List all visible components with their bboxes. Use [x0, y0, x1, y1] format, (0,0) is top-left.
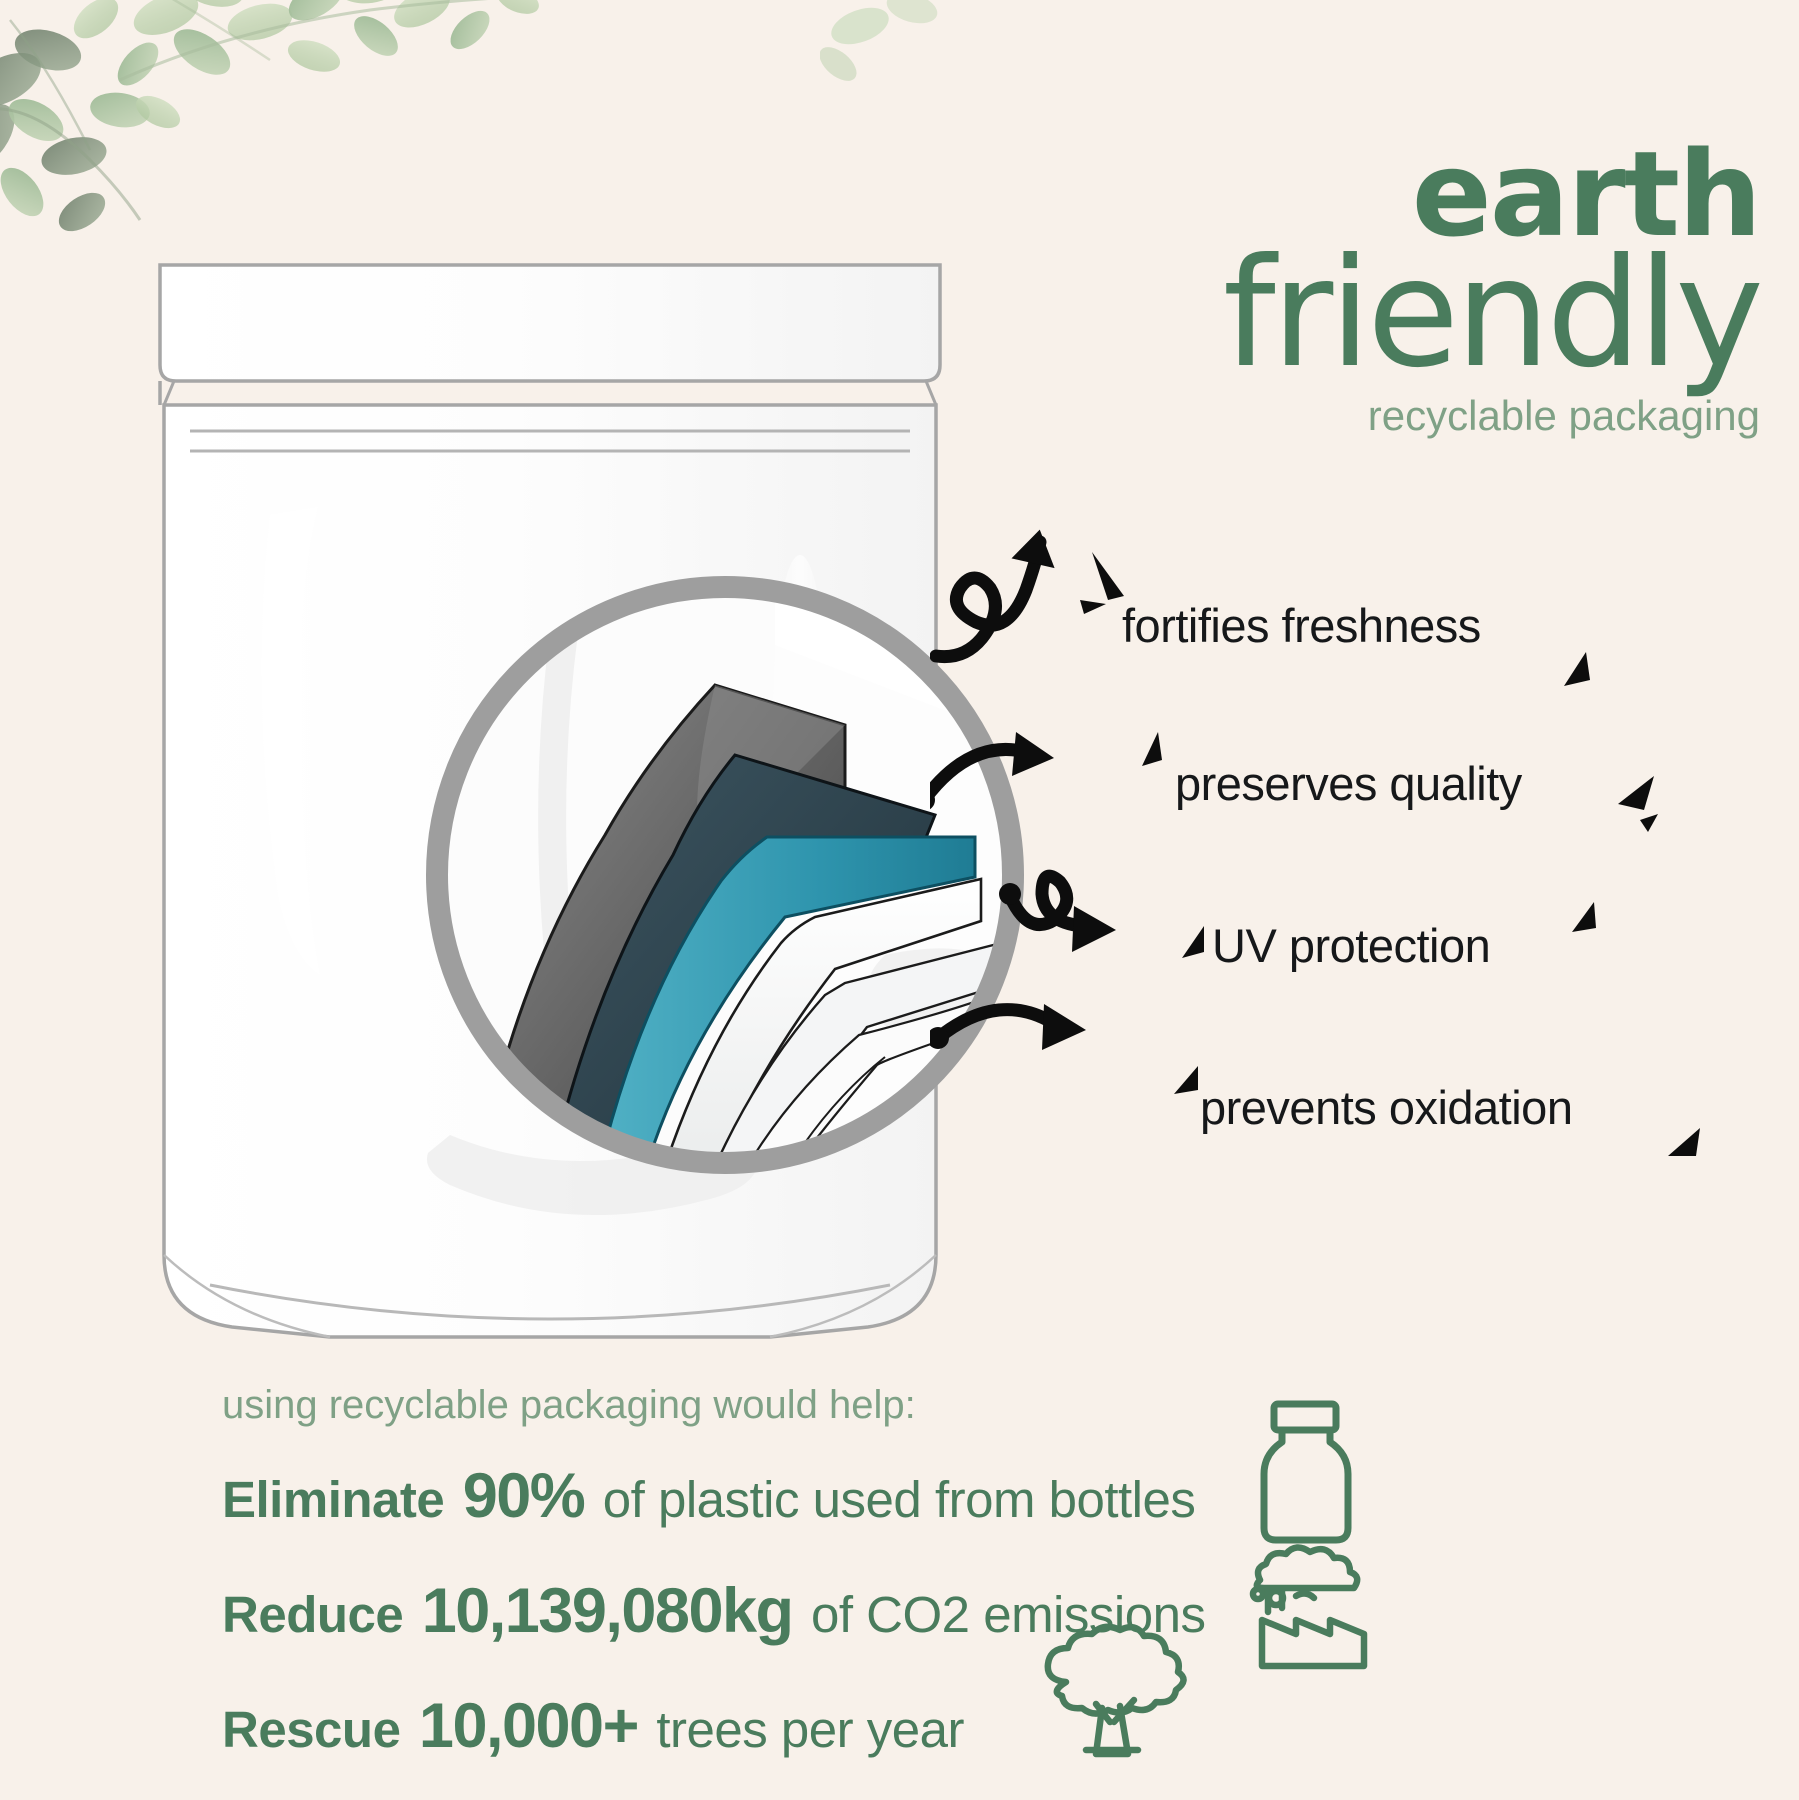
feature-label-uv-protection: UV protection	[1212, 918, 1490, 973]
stat-row-rescue: Rescue 10,000+ trees per year	[222, 1690, 964, 1762]
stat-row-eliminate: Eliminate 90% of plastic used from bottl…	[222, 1460, 1195, 1532]
sparkle-icon	[1136, 730, 1176, 776]
title-line-friendly: friendly	[1060, 243, 1760, 386]
bottle-icon	[1248, 1398, 1366, 1548]
feature-label-preserves-quality: preserves quality	[1175, 756, 1522, 811]
stat-verb: Eliminate	[222, 1471, 444, 1528]
sparkle-icon	[1556, 648, 1606, 698]
arrowhead-3	[1072, 906, 1116, 952]
infographic-canvas: earth friendly recyclable packaging fort…	[0, 0, 1799, 1800]
stat-verb: Rescue	[222, 1701, 400, 1758]
tree-icon	[1024, 1622, 1200, 1772]
stat-rest: trees per year	[656, 1701, 964, 1758]
page-title-block: earth friendly recyclable packaging	[1060, 140, 1760, 437]
stat-value: 90%	[463, 1461, 585, 1531]
sparkle-icon	[1560, 898, 1608, 956]
stats-intro-text: using recyclable packaging would help:	[222, 1383, 916, 1428]
sparkle-icon	[1660, 1120, 1714, 1180]
stat-rest: of plastic used from bottles	[603, 1471, 1196, 1528]
feature-label-prevents-oxidation: prevents oxidation	[1200, 1080, 1572, 1135]
stat-value: 10,139,080kg	[422, 1576, 793, 1646]
leaf-decoration-secondary	[820, 0, 1100, 130]
anchor-dot-3	[999, 883, 1021, 905]
arrowhead-4	[1042, 1004, 1086, 1050]
factory-icon	[1244, 1538, 1384, 1674]
stat-verb: Reduce	[222, 1586, 403, 1643]
sparkle-icon	[1610, 770, 1666, 836]
arrowhead-2	[1012, 732, 1054, 776]
page-subtitle: recyclable packaging	[1060, 395, 1760, 437]
feature-label-fortifies-freshness: fortifies freshness	[1122, 598, 1481, 653]
stat-value: 10,000+	[419, 1691, 638, 1761]
